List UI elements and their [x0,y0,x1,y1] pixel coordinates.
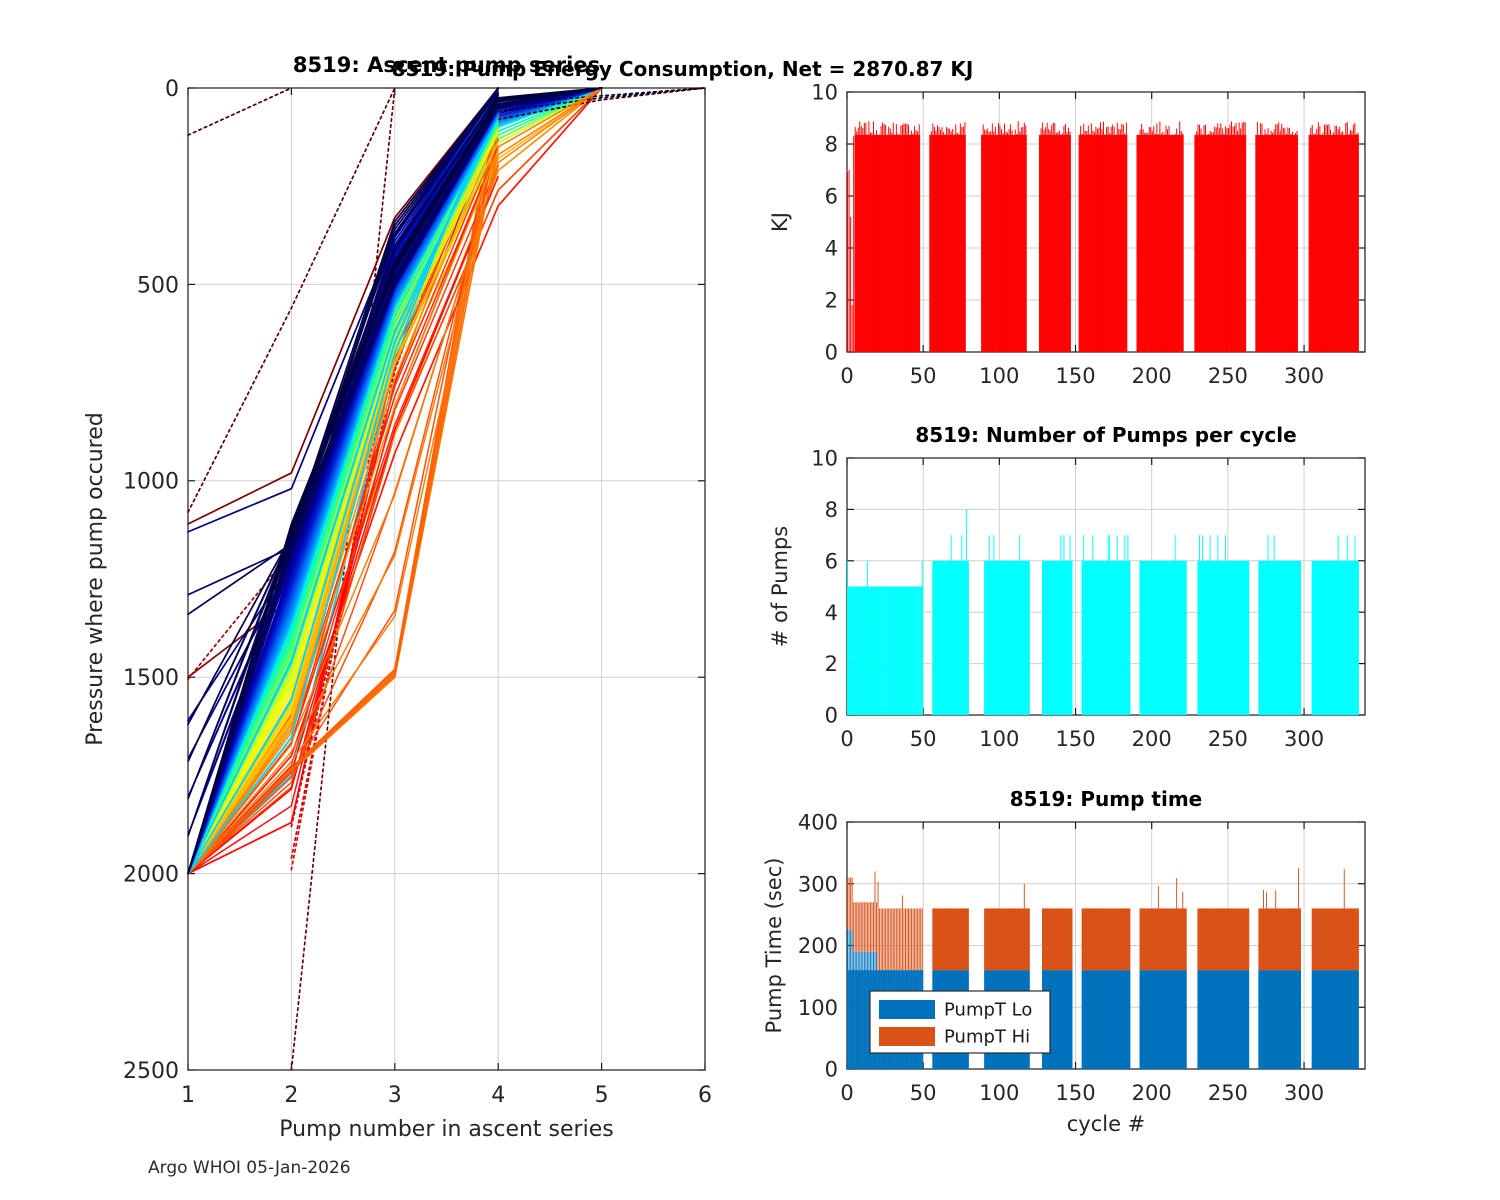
pumpt-lo-bar [1150,970,1151,1069]
pumps-per-cycle-xticklabel-100: 100 [979,727,1019,751]
pumpt-lo-bar [1057,970,1058,1069]
pumpt-lo-bar [1318,970,1319,1069]
pumpt-hi-bar [939,908,940,970]
pumpt-lo-bar [1332,970,1333,1069]
pumpt-hi-bar [871,902,872,951]
pumpt-hi-bar [1124,908,1125,970]
energy-bar-block [1079,135,1128,352]
pumps-per-cycle-title: 8519: Number of Pumps per cycle [915,423,1296,447]
pump-time-yticklabel-200: 200 [798,934,838,958]
pumpt-hi-bar [1240,908,1241,970]
energy-bar [850,217,851,352]
pumpt-lo-bar [1184,970,1185,1069]
pumpt-lo-bar [1143,970,1144,1069]
pumpt-lo-bar [1092,970,1093,1069]
energy-bar-block [855,135,921,352]
figure-canvas: 123456050010001500200025008519: Ascent p… [0,0,1500,1200]
pumpt-hi-bar [1281,908,1282,970]
pumpt-lo-bar [1228,970,1229,1069]
ascent-pump-series-yticklabel-1000: 1000 [123,470,179,495]
pumpt-lo-bar [1342,970,1343,1069]
pumpt-hi-bar [1318,908,1319,970]
pumpt-hi-bar [964,908,965,970]
pumps-bar-block [932,561,969,715]
pumpt-hi-bar [1330,908,1331,970]
pumpt-hi-bar [1280,908,1281,970]
pump-time-yticklabel-300: 300 [798,872,838,896]
pumpt-hi-bar [1121,908,1122,970]
pumpt-hi-bar [1004,908,1005,970]
pumpt-lo-bar [1297,970,1298,1069]
pumpt-lo-bar [1280,970,1281,1069]
pumpt-hi-bar [1239,908,1240,970]
pumpt-lo-bar [1207,970,1208,1069]
pumpt-hi-bar [888,908,889,970]
pumpt-lo-bar [1292,970,1293,1069]
pumpt-lo-bar [1065,970,1066,1069]
pumpt-hi-bar [1332,908,1333,970]
pumpt-lo-bar [1158,970,1159,1069]
energy-bar-block [1039,135,1071,352]
legend-swatch-1 [879,1027,935,1046]
pumpt-hi-bar [1175,908,1176,970]
pumpt-hi-bar [1070,908,1071,970]
pumpt-hi-bar [1228,908,1229,970]
pumpt-hi-bar [1016,908,1017,970]
pumpt-hi-bar [1207,908,1208,970]
pumpt-hi-bar [916,908,917,970]
pumpt-lo-bar [1170,970,1171,1069]
pumpt-hi-bar [1269,908,1270,970]
pumpt-hi-bar [893,908,894,970]
pumpt-hi-bar [1019,908,1020,970]
pumpt-hi-bar [1286,908,1287,970]
pumpt-lo-bar [1164,970,1165,1069]
pumpt-hi-bar [913,908,914,970]
pumpt-hi-bar [1149,908,1150,970]
pumpt-lo-bar [1120,970,1121,1069]
pumpt-hi-bar [1153,908,1154,970]
ascent-pump-series-xticklabel-1: 1 [181,1083,195,1108]
pumpt-lo-bar [1100,970,1101,1069]
ascent-pump-series-xticklabel-2: 2 [284,1083,298,1108]
pumpt-hi-bar [1325,908,1326,970]
pumpt-hi-bar [1329,908,1330,970]
pumpt-hi-bar [951,908,952,970]
pumps-bar-block [984,561,1030,715]
pumpt-hi-bar [1347,908,1348,970]
pumpt-hi-bar [1199,908,1200,970]
pumps-bar-block [847,587,923,716]
pumpt-lo-bar [1068,970,1069,1069]
pumpt-hi-bar [1162,908,1163,970]
pumpt-lo-bar [1169,970,1170,1069]
pumpt-lo-bar [1223,970,1224,1069]
pumpt-hi-bar [1344,869,1345,970]
pumpt-lo-bar [1172,970,1173,1069]
pumpt-hi-bar [1272,908,1273,970]
pumpt-lo-bar [1217,970,1218,1069]
pumpt-hi-bar [1265,908,1266,970]
pumpt-lo-bar [1159,970,1160,1069]
pumpt-lo-bar [1152,970,1153,1069]
pumpt-lo-bar [1354,970,1355,1069]
pumpt-lo-bar [1066,970,1067,1069]
pumpt-hi-bar [1219,908,1220,970]
pumpt-hi-bar [937,908,938,970]
pumpt-lo-bar [1123,970,1124,1069]
pumpt-lo-bar [1124,970,1125,1069]
pumpt-hi-bar [1216,908,1217,970]
pumpt-lo-bar [1108,970,1109,1069]
pumpt-hi-bar [1095,908,1096,970]
pumps-bar-block [1082,561,1131,715]
pumpt-lo-bar [1115,970,1116,1069]
pump-energy-ylabel: KJ [768,212,792,232]
pump-time-yticklabel-400: 400 [798,811,838,835]
pumpt-hi-bar [1322,908,1323,970]
pumpt-lo-bar [1293,970,1294,1069]
pump-energy-xticklabel-150: 150 [1055,364,1095,388]
pumpt-lo-bar [1268,970,1269,1069]
pumpt-lo-bar [1262,970,1263,1069]
pumpt-hi-bar [942,908,943,970]
pumpt-lo-bar [1208,970,1209,1069]
pumpt-hi-bar [1182,892,1183,970]
pumpt-hi-bar [1066,908,1067,970]
pumpt-hi-bar [952,908,953,970]
pumpt-hi-bar [1009,908,1010,970]
pumpt-hi-bar [1120,908,1121,970]
pumpt-hi-bar [943,908,944,970]
pumpt-lo-bar [1230,970,1231,1069]
pumpt-hi-bar [1290,908,1291,970]
pumpt-hi-bar [1108,908,1109,970]
pump-time-yticklabel-0: 0 [825,1058,838,1082]
pumpt-hi-bar [1111,908,1112,970]
pumpt-lo-bar [1121,970,1122,1069]
pumpt-hi-bar [1297,908,1298,970]
pumpt-lo-bar [1176,970,1177,1069]
pumpt-hi-bar [992,908,993,970]
pumpt-lo-bar [1141,970,1142,1069]
ascent-pump-series-yticklabel-2500: 2500 [123,1059,179,1084]
energy-bar-block [929,135,966,352]
energy-bar-block [1309,135,1359,352]
pumpt-lo-bar [1118,970,1119,1069]
pumpt-lo-bar [1290,970,1291,1069]
pumpt-hi-bar [1335,908,1336,970]
pumpt-hi-bar [1278,908,1279,970]
pumpt-lo-bar [1336,970,1337,1069]
pumpt-hi-bar [875,871,876,951]
pump-time-xticklabel-0: 0 [840,1081,853,1105]
ascent-pump-series-yticklabel-0: 0 [165,77,179,102]
energy-bar-block [1255,135,1298,352]
pumpt-hi-bar [1172,908,1173,970]
pump-time-xticklabel-300: 300 [1284,1081,1324,1105]
pump-energy-xticklabel-50: 50 [910,364,937,388]
pumpt-hi-bar [1214,908,1215,970]
pumpt-hi-bar [1015,908,1016,970]
pumpt-hi-bar [1141,908,1142,970]
pumpt-hi-bar [1068,908,1069,970]
pumpt-lo-bar [1146,970,1147,1069]
energy-bar-block [981,135,1027,352]
pumpt-lo-bar [1105,970,1106,1069]
pumpt-lo-bar [1059,970,1060,1069]
pumpt-hi-bar [870,902,871,951]
pumpt-hi-bar [1129,908,1130,970]
pumpt-lo-bar [1347,970,1348,1069]
pumpt-lo-bar [1126,970,1127,1069]
pumpt-hi-bar [935,908,936,970]
pumpt-hi-bar [1315,908,1316,970]
pumpt-lo-bar [1162,970,1163,1069]
pumpt-hi-bar [1089,908,1090,970]
pumpt-hi-bar [1213,908,1214,970]
pumpt-lo-bar [1182,970,1183,1069]
pumpt-lo-bar [1051,970,1052,1069]
pumpt-lo-bar [1274,970,1275,1069]
pumpt-lo-bar [1214,970,1215,1069]
pumpt-hi-bar [917,908,918,970]
pumpt-lo-bar [1319,970,1320,1069]
pumpt-lo-bar [1173,970,1174,1069]
pumpt-lo-bar [1220,970,1221,1069]
pumpt-lo-bar [1350,970,1351,1069]
pumpt-hi-bar [1028,908,1029,970]
pumpt-hi-bar [1339,908,1340,970]
pumpt-lo-bar [1102,970,1103,1069]
pumpt-hi-bar [1341,908,1342,970]
pumpt-hi-bar [1123,908,1124,970]
pumpt-hi-bar [1013,908,1014,970]
pumpt-hi-bar [1166,908,1167,970]
pumpt-hi-bar [867,902,868,951]
pumpt-hi-bar [859,902,860,951]
pumpt-lo-bar [1063,970,1064,1069]
pumpt-hi-bar [990,908,991,970]
pumpt-lo-bar [1185,970,1186,1069]
pumpt-hi-bar [864,902,865,951]
pumpt-lo-bar [1287,970,1288,1069]
pumpt-hi-bar [868,902,869,951]
ascent-pump-series-yticklabel-2000: 2000 [123,863,179,888]
pumpt-hi-bar [1021,908,1022,970]
pumpt-lo-bar [1202,970,1203,1069]
pumpt-hi-bar [960,908,961,970]
pumpt-hi-bar [882,908,883,970]
energy-bar [849,170,850,352]
pump-time-xlabel: cycle # [1067,1112,1146,1136]
pumpt-hi-bar [1357,908,1358,970]
pumpt-hi-bar [954,908,955,970]
pumpt-hi-bar [1217,908,1218,970]
pumpt-hi-bar [955,908,956,970]
pumpt-hi-bar [1126,908,1127,970]
pumpt-hi-bar [914,908,915,970]
pumpt-lo-bar [1242,970,1243,1069]
pumpt-lo-bar [1245,970,1246,1069]
pumpt-lo-bar [1356,970,1357,1069]
pumpt-lo-bar [1236,970,1237,1069]
pumpt-lo-bar [1103,970,1104,1069]
pumps-per-cycle-yticklabel-10: 10 [811,447,838,471]
pump-energy-yticklabel-6: 6 [825,185,838,209]
pump-energy-yticklabel-10: 10 [811,81,838,105]
pumpt-lo-bar [1053,970,1054,1069]
pumpt-lo-bar [1353,970,1354,1069]
pump-energy-yticklabel-2: 2 [825,289,838,313]
pumpt-lo-bar [1284,970,1285,1069]
pumpt-hi-bar [897,908,898,970]
pumpt-hi-bar [876,902,877,951]
pumpt-hi-bar [1048,908,1049,970]
pumpt-lo-bar [1265,970,1266,1069]
pumpt-hi-bar [1169,908,1170,970]
pumpt-hi-bar [1338,908,1339,970]
pumpt-hi-bar [1092,908,1093,970]
pumpt-hi-bar [1205,908,1206,970]
pumpt-hi-bar [1321,908,1322,970]
pumps-per-cycle-xticklabel-0: 0 [840,727,853,751]
pumpt-hi-bar [1236,908,1237,970]
pumpt-hi-bar [1094,908,1095,970]
pump-time-xticklabel-100: 100 [979,1081,1019,1105]
pumpt-hi-bar [1152,908,1153,970]
pumpt-lo-bar [1325,970,1326,1069]
pumpt-lo-bar [1054,970,1055,1069]
pumpt-hi-bar [922,908,923,970]
pumpt-hi-bar [961,908,962,970]
pumpt-hi-bar [919,908,920,970]
pumpt-lo-bar [1231,970,1232,1069]
pumpt-hi-bar [1245,908,1246,970]
pumpt-hi-bar [1051,908,1052,970]
pumpt-hi-bar [884,908,885,970]
pumpt-lo-bar [1341,970,1342,1069]
pumpt-lo-bar [1313,970,1314,1069]
energy-bar [852,305,853,352]
pumpt-lo-bar [1094,970,1095,1069]
pumpt-lo-bar [1112,970,1113,1069]
pumps-per-cycle-yticklabel-6: 6 [825,549,838,573]
pumpt-lo-bar [1201,970,1202,1069]
pumpt-hi-bar [1262,908,1263,970]
pumpt-hi-bar [1012,908,1013,970]
pumpt-hi-bar [1275,891,1276,971]
pumpt-hi-bar [999,908,1000,970]
pumpt-hi-bar [1007,908,1008,970]
pumpt-hi-bar [1345,908,1346,970]
pumpt-lo-bar [1204,970,1205,1069]
pumpt-lo-bar [1315,970,1316,1069]
pumpt-hi-bar [1283,908,1284,970]
pumpt-hi-bar [1356,908,1357,970]
pumpt-hi-bar [899,908,900,970]
pumpt-hi-bar [896,908,897,970]
pumpt-lo-bar [1263,970,1264,1069]
pump-energy-yticklabel-8: 8 [825,133,838,157]
pumpt-hi-bar [1233,908,1234,970]
pumpt-hi-bar [1327,908,1328,970]
pumpt-hi-bar [1185,908,1186,970]
pumpt-hi-bar [1018,908,1019,970]
pumpt-hi-bar [865,902,866,951]
pumps-per-cycle-xticklabel-50: 50 [910,727,937,751]
pumpt-hi-bar [1115,908,1116,970]
pumpt-lo-bar [1117,970,1118,1069]
pumpt-lo-bar [1199,970,1200,1069]
pumpt-hi-bar [1324,908,1325,970]
pumpt-hi-bar [920,908,921,970]
pumpt-hi-bar [847,878,848,930]
pumpt-hi-bar [1184,908,1185,970]
pumpt-hi-bar [1100,908,1101,970]
pumpt-hi-bar [1260,908,1261,970]
pumpt-hi-bar [1097,908,1098,970]
pumpt-hi-bar [1143,908,1144,970]
pumpt-hi-bar [1225,908,1226,970]
pumpt-hi-bar [945,908,946,970]
pumpt-lo-bar [1149,970,1150,1069]
pumpt-hi-bar [1050,908,1051,970]
pumpt-hi-bar [890,908,891,970]
legend-label-1: PumpT Hi [944,1027,1030,1048]
pumps-bar-block [1140,561,1187,715]
pumpt-hi-bar [1106,908,1107,970]
pumpt-hi-bar [948,908,949,970]
pumpt-hi-bar [1210,908,1211,970]
pumpt-hi-bar [900,908,901,970]
pumpt-hi-bar [1027,908,1028,970]
pumpt-hi-bar [1109,908,1110,970]
pumpt-hi-bar [1243,908,1244,970]
pumpt-hi-bar [1059,908,1060,970]
ascent-pump-series-xticklabel-4: 4 [491,1083,505,1108]
energy-bar [853,136,854,352]
pumpt-hi-bar [849,878,850,930]
pumpt-lo-bar [1156,970,1157,1069]
pumpt-hi-bar [908,908,909,970]
pumpt-hi-bar [902,895,903,970]
pumpt-lo-bar [1298,970,1299,1069]
pumpt-hi-bar [1170,908,1171,970]
pumpt-lo-bar [1345,970,1346,1069]
pumpt-hi-bar [1231,908,1232,970]
pumpt-hi-bar [1102,908,1103,970]
pumpt-hi-bar [881,908,882,970]
pumpt-hi-bar [1263,890,1264,970]
pumpt-hi-bar [946,908,947,970]
pumpt-lo-bar [1348,970,1349,1069]
pumpt-hi-bar [894,908,895,970]
pumpt-lo-bar [1175,970,1176,1069]
pumpt-hi-bar [891,908,892,970]
pump-energy-xticklabel-100: 100 [979,364,1019,388]
pumpt-hi-bar [1289,908,1290,970]
pumpt-lo-bar [1333,970,1334,1069]
pumpt-lo-bar [1106,970,1107,1069]
pump-time-yticklabel-100: 100 [798,996,838,1020]
pumpt-hi-bar [1300,908,1301,970]
pumpt-hi-bar [967,908,968,970]
pumpt-lo-bar [1144,970,1145,1069]
pumpt-hi-bar [1173,908,1174,970]
pumpt-lo-bar [1289,970,1290,1069]
pumpt-lo-bar [1243,970,1244,1069]
